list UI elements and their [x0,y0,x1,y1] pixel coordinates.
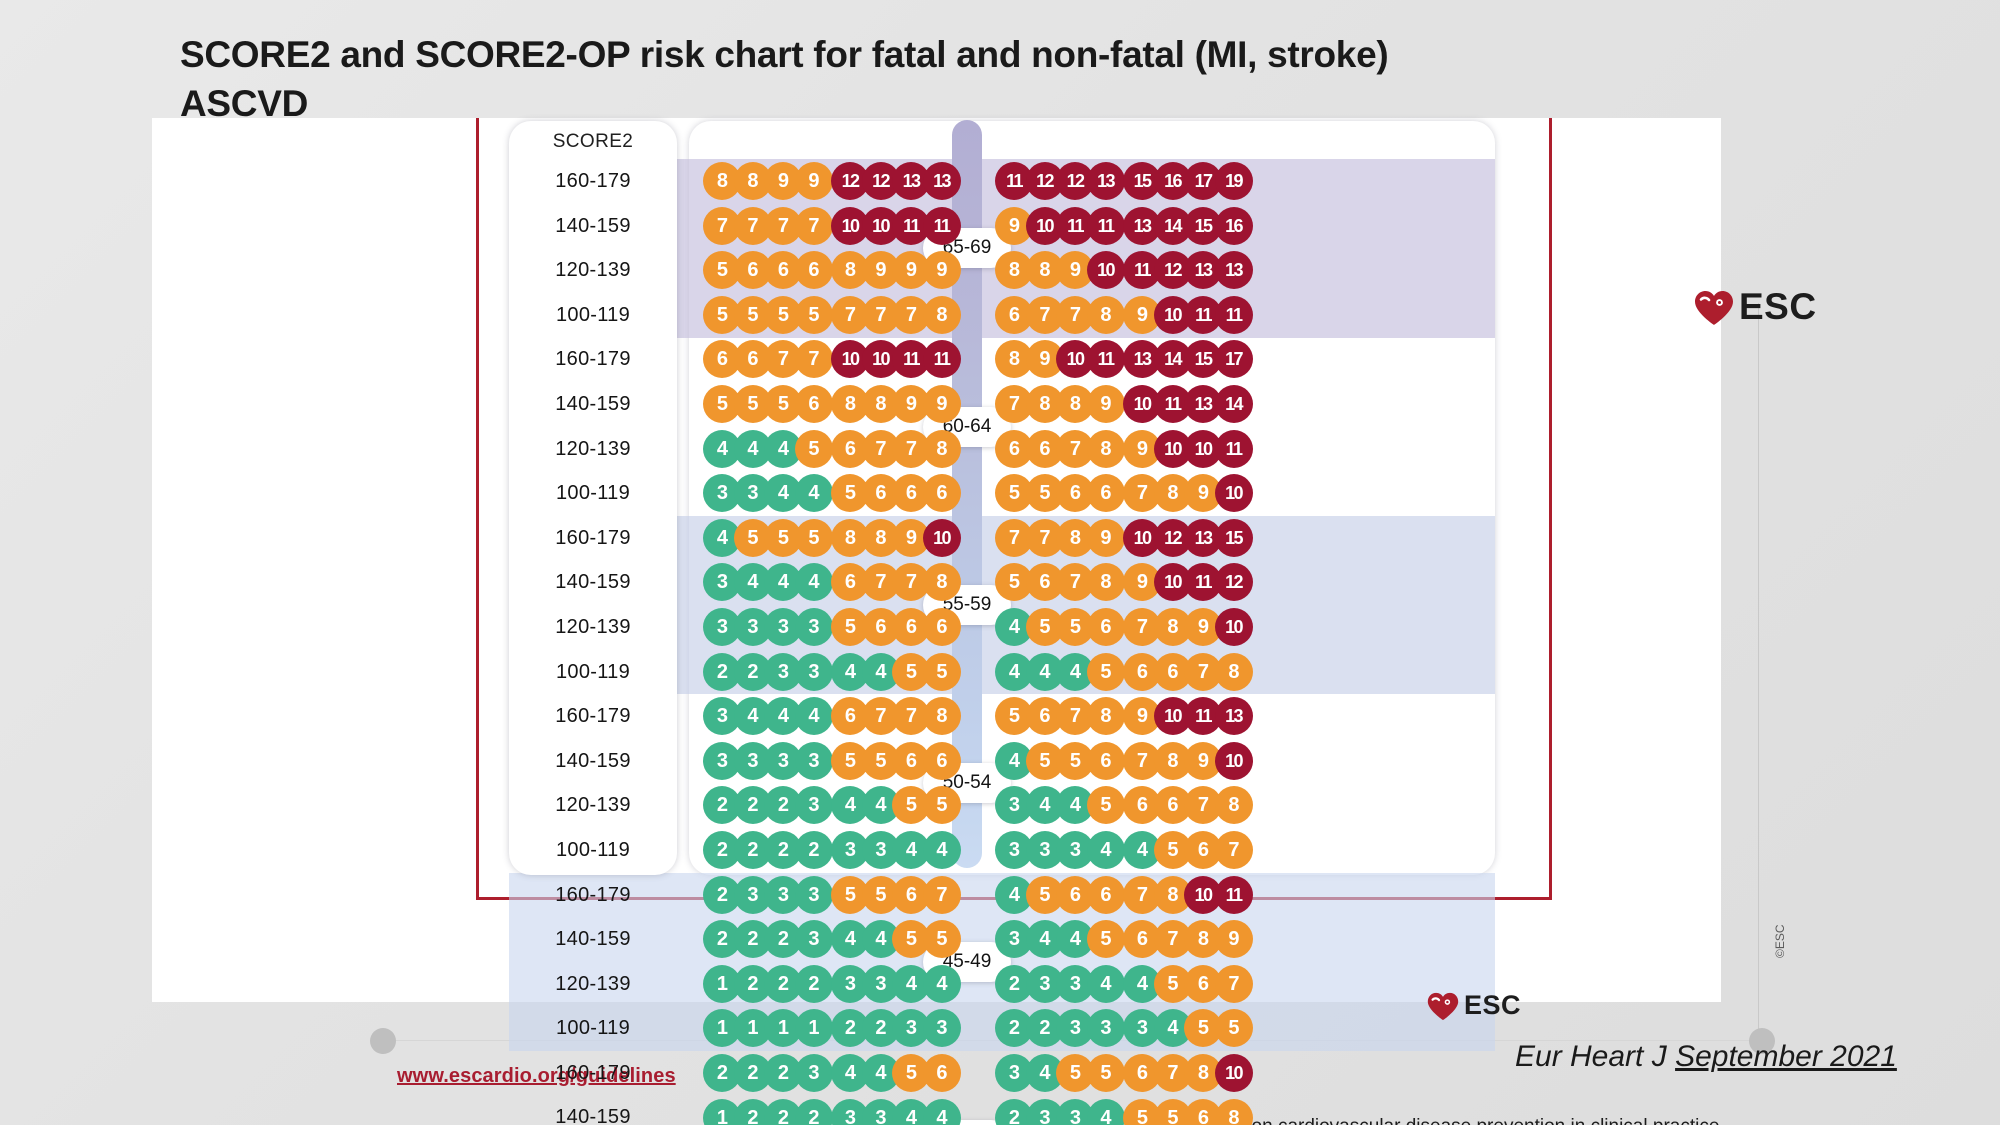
esc-wordmark: ESC [1464,990,1521,1021]
vertical-divider [1758,303,1759,1035]
risk-value-cell: 4 [923,965,961,1003]
risk-value-cell: 10 [923,519,961,557]
ref-text-d: clinical [1591,1116,1648,1125]
risk-value-cell: 3 [923,1009,961,1047]
risk-grid-row: 2223445534456678 [689,783,1495,828]
risk-grid-row: 66771010111189101113141517 [689,337,1495,382]
risk-value-cell: 19 [1215,162,1253,200]
risk-grid-row: 2223445534456789 [689,917,1495,962]
risk-grid-row: 1222334423344567 [689,962,1495,1007]
risk-value-cell: 16 [1215,207,1253,245]
risk-value-cell: 6 [795,251,833,289]
heart-icon [1694,290,1732,324]
risk-value-cell: 3 [795,786,833,824]
risk-value-cell: 4 [795,697,833,735]
risk-value-cell: 6 [1087,876,1125,914]
journal-credit: Eur Heart J September 2021 [1515,1040,1897,1074]
risk-value-cell: 3 [795,920,833,958]
sbp-row-label: 100-119 [509,293,677,338]
journal-name: Eur Heart J [1515,1040,1675,1073]
risk-value-cell: 6 [1087,474,1125,512]
risk-value-cell: 3 [795,608,833,646]
risk-value-cell: 5 [1087,920,1125,958]
risk-value-cell: 5 [923,653,961,691]
risk-value-cell: 13 [1215,251,1253,289]
risk-value-cell: 8 [1087,430,1125,468]
sbp-row-label: 160-179 [509,337,677,382]
sbp-row-labels: 160-179140-159120-139100-119160-179140-1… [509,159,677,1125]
page-title: SCORE2 and SCORE2-OP risk chart for fata… [180,30,1780,128]
risk-value-cell: 5 [1087,1054,1125,1092]
risk-value-cell: 8 [923,563,961,601]
risk-grid-row: 455588910778910121315 [689,516,1495,561]
risk-value-cell: 13 [1215,697,1253,735]
sbp-row-label: 160-179 [509,873,677,918]
risk-grid-row: 3444677856789101113 [689,694,1495,739]
risk-value-cell: 5 [795,296,833,334]
sbp-row-label: 140-159 [509,1095,677,1125]
sbp-row-label: 160-179 [509,516,677,561]
risk-value-cell: 2 [795,1099,833,1125]
risk-value-cell: 9 [1087,519,1125,557]
risk-value-cell: 7 [795,340,833,378]
sbp-row-label: 120-139 [509,962,677,1007]
sbp-row-label: 120-139 [509,427,677,472]
risk-value-cell: 6 [1087,608,1125,646]
risk-value-cell: 7 [1215,965,1253,1003]
risk-value-cell: 11 [1087,340,1125,378]
risk-grid-row: 2222334433344567 [689,828,1495,873]
risk-value-cell: 11 [923,340,961,378]
risk-value-cell: 8 [1215,653,1253,691]
risk-value-cell: 10 [1215,474,1253,512]
risk-value-cell: 10 [1215,742,1253,780]
risk-value-cell: 2 [795,965,833,1003]
sbp-row-label: 100-119 [509,1006,677,1051]
sbp-row-label: 120-139 [509,248,677,293]
risk-value-cell: 6 [795,385,833,423]
risk-grid-row: 777710101111910111113141516 [689,204,1495,249]
risk-grid-row: 55568899788910111314 [689,382,1495,427]
risk-value-cell: 5 [1087,786,1125,824]
risk-value-cell: 12 [1215,563,1253,601]
risk-value-cell: 10 [1215,608,1253,646]
risk-value-cell: 8 [1087,697,1125,735]
risk-value-cell: 13 [923,162,961,200]
figure-panel: ©ESC SCORE2 160-179140-159120-139100-119… [152,118,1721,1002]
footer-dot-left [370,1028,396,1054]
risk-value-cell: 5 [795,519,833,557]
risk-value-cell: 4 [795,563,833,601]
risk-value-cell: 8 [1087,563,1125,601]
risk-value-cell: 4 [795,474,833,512]
sbp-row-label: 100-119 [509,650,677,695]
sbp-row-label: 100-119 [509,828,677,873]
risk-value-cell: 2 [795,831,833,869]
risk-grid-row: 1222334423345568 [689,1096,1495,1125]
risk-value-cell: 4 [1087,965,1125,1003]
sbp-row-label: 120-139 [509,605,677,650]
risk-grid-row: 5555777867789101111 [689,293,1495,338]
risk-value-cell: 9 [795,162,833,200]
risk-value-cell: 11 [1215,296,1253,334]
risk-value-cell: 4 [923,1099,961,1125]
risk-value-cell: 11 [1215,430,1253,468]
risk-value-cell: 4 [923,831,961,869]
risk-value-cell: 9 [1215,920,1253,958]
risk-value-cell: 3 [795,876,833,914]
risk-value-cell: 1 [795,1009,833,1047]
esc-logo-top: ESC [1694,286,1817,328]
sbp-row-label: 140-159 [509,917,677,962]
risk-value-cell: 8 [923,697,961,735]
sbp-row-label: 140-159 [509,382,677,427]
risk-value-cell: 10 [1087,251,1125,289]
risk-grid-row: 22234456345567810 [689,1051,1495,1096]
heart-icon [1427,992,1457,1019]
risk-grid-row: 233355674566781011 [689,873,1495,918]
risk-value-cell: 8 [1215,1099,1253,1125]
risk-value-cell: 3 [1087,1009,1125,1047]
risk-grid-row: 3444677856789101112 [689,560,1495,605]
risk-value-cell: 7 [1215,831,1253,869]
risk-value-cell: 5 [795,430,833,468]
risk-value-cell: 5 [923,920,961,958]
risk-value-cell: 3 [795,1054,833,1092]
slide-canvas: SCORE2 and SCORE2-OP risk chart for fata… [0,0,2000,1125]
sbp-row-label: 140-159 [509,204,677,249]
sbp-row-label: 140-159 [509,560,677,605]
esc-wordmark: ESC [1739,286,1817,328]
score2-header: SCORE2 [509,121,677,159]
risk-value-cell: 3 [795,742,833,780]
risk-value-cell: 6 [923,742,961,780]
risk-value-cell: 17 [1215,340,1253,378]
sbp-row-label: 160-179 [509,159,677,204]
risk-value-cell: 9 [923,385,961,423]
risk-value-cell: 15 [1215,519,1253,557]
risk-grid-row: 4445677866789101011 [689,427,1495,472]
risk-value-cell: 4 [1087,1099,1125,1125]
sbp-row-label: 160-179 [509,694,677,739]
risk-value-cell: 5 [923,786,961,824]
risk-value-grid: 8899121213131112121315161719777710101111… [689,121,1495,875]
risk-value-cell: 5 [1215,1009,1253,1047]
risk-grid-row: 566689998891011121313 [689,248,1495,293]
risk-value-cell: 4 [1087,831,1125,869]
copyright-notice: ©ESC [1773,924,1787,958]
risk-value-cell: 10 [1215,1054,1253,1092]
risk-value-cell: 9 [1087,385,1125,423]
esc-logo-bottom: ESC [1427,990,1521,1021]
risk-value-cell: 11 [1215,876,1253,914]
risk-grid-row: 8899121213131112121315161719 [689,159,1495,204]
risk-grid-row: 2233445544456678 [689,650,1495,695]
risk-value-cell: 8 [923,296,961,334]
journal-date: September 2021 [1675,1040,1897,1073]
risk-value-cell: 3 [795,653,833,691]
risk-value-cell: 5 [1087,653,1125,691]
risk-value-cell: 6 [923,474,961,512]
sbp-label-card: SCORE2 160-179140-159120-139100-119160-1… [509,121,677,875]
risk-value-cell: 7 [923,876,961,914]
risk-grid-row: 1111223322333455 [689,1006,1495,1051]
risk-value-cell: 14 [1215,385,1253,423]
risk-value-cell: 6 [1087,742,1125,780]
ref-text-e: practice [1648,1116,1720,1125]
sbp-row-label: 120-139 [509,783,677,828]
risk-value-cell: 7 [795,207,833,245]
risk-value-cell: 11 [923,207,961,245]
risk-grid-row: 33445666556678910 [689,471,1495,516]
risk-value-cell: 8 [923,430,961,468]
risk-grid-row: 33335666455678910 [689,605,1495,650]
risk-value-cell: 8 [1215,786,1253,824]
ref-text-c: in [1565,1116,1590,1125]
risk-value-cell: 8 [1087,296,1125,334]
sbp-row-label: 100-119 [509,471,677,516]
risk-grid-row: 33335566455678910 [689,739,1495,784]
sbp-row-label: 140-159 [509,739,677,784]
sbp-row-label: 160-179 [509,1051,677,1096]
risk-value-cell: 9 [923,251,961,289]
risk-value-cell: 6 [923,1054,961,1092]
risk-value-cell: 6 [923,608,961,646]
risk-value-cell: 11 [1087,207,1125,245]
risk-value-cell: 13 [1087,162,1125,200]
